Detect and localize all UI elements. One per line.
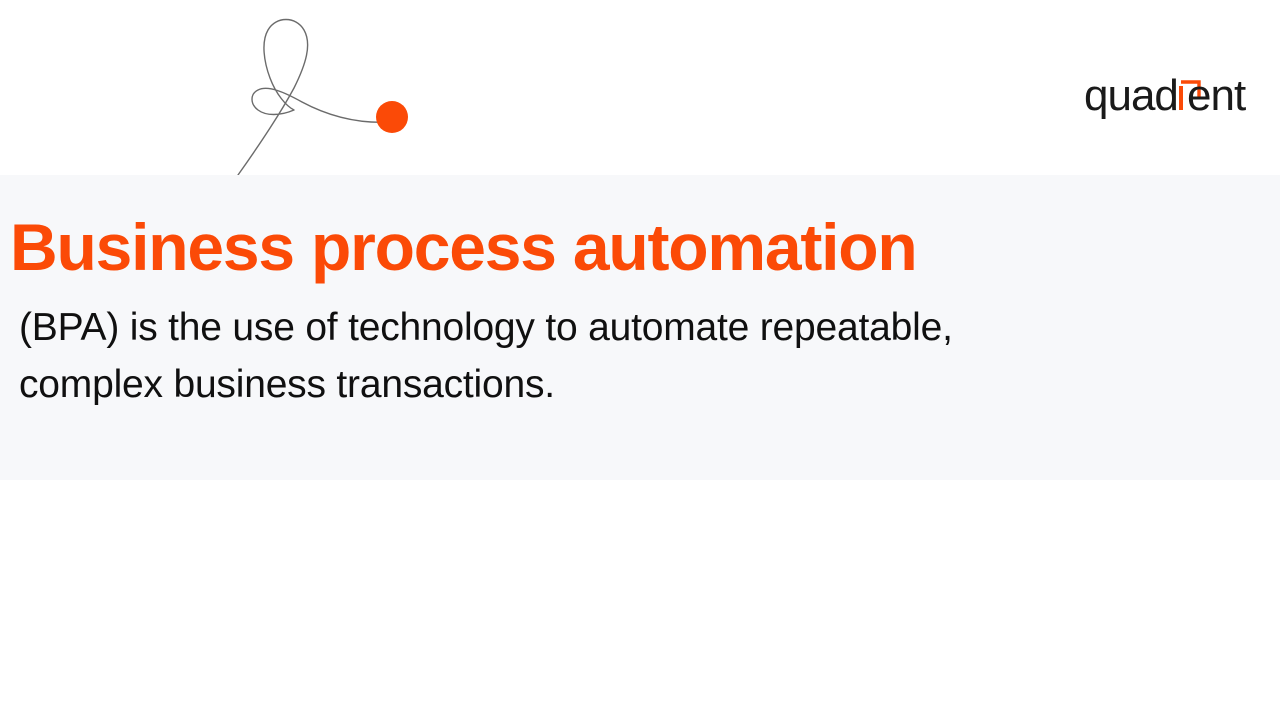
logo-wordmark-head: quad [1084,71,1178,120]
body-copy-line-1: (BPA) is the use of technology to automa… [19,306,953,349]
slide-canvas: quad ent Business process automation (BP… [0,0,1280,720]
logo-accent-i-stem-icon [1179,86,1183,110]
page-title: Business process automation [10,213,917,283]
content-band: Business process automation (BPA) is the… [0,175,1280,480]
quadient-logo[interactable]: quad ent [1084,70,1244,120]
squiggle-end-dot-icon [376,101,408,133]
body-copy-line-2: complex business transactions. [19,363,555,406]
decorative-squiggle-graphic [220,4,420,184]
empty-lower-stage [0,480,1280,720]
logo-wordmark-tail: ent [1187,71,1246,120]
body-copy: (BPA) is the use of technology to automa… [19,299,1219,413]
squiggle-path [238,20,392,176]
